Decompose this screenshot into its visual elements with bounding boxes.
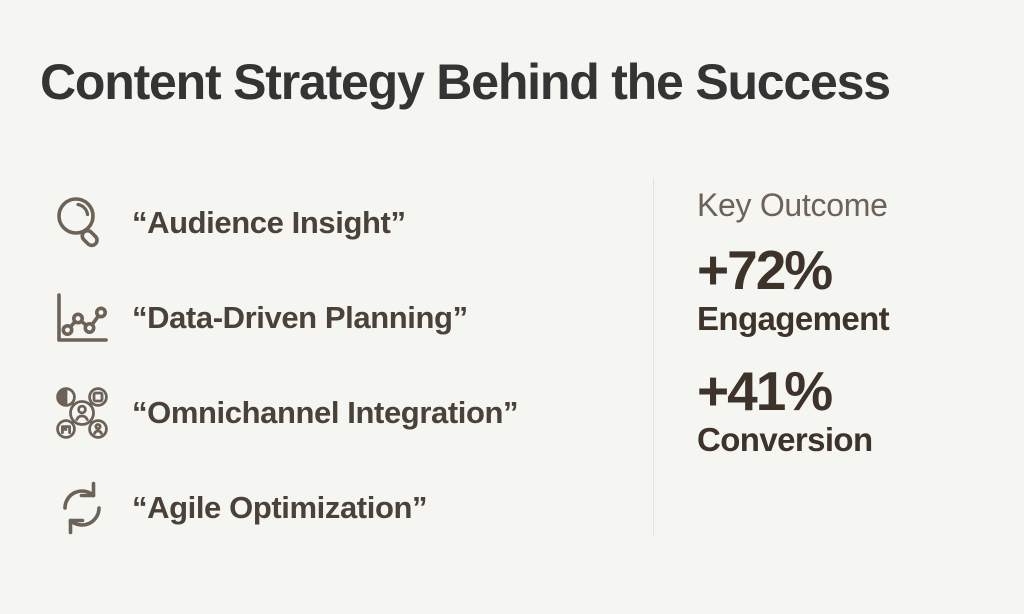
stat-conversion: +41% Conversion: [697, 363, 997, 458]
key-outcome-panel: Key Outcome +72% Engagement +41% Convers…: [697, 186, 997, 458]
strategy-item-agile-optimization[interactable]: “Agile Optimization”: [48, 460, 628, 555]
stat-engagement: +72% Engagement: [697, 242, 997, 337]
strategy-item-label: “Agile Optimization”: [132, 490, 427, 526]
strategy-item-label: “Audience Insight”: [132, 205, 406, 241]
strategy-item-audience-insight[interactable]: “Audience Insight”: [48, 175, 628, 270]
strategy-item-label: “Omnichannel Integration”: [132, 395, 518, 431]
magnifier-icon: [48, 189, 116, 257]
strategy-list: “Audience Insight” “Data-Driven Planning…: [48, 175, 628, 555]
stat-value: +41%: [697, 363, 997, 421]
stat-label: Conversion: [697, 422, 997, 458]
strategy-item-label: “Data-Driven Planning”: [132, 300, 468, 336]
stat-label: Engagement: [697, 301, 997, 337]
omnichannel-network-icon: [48, 379, 116, 447]
strategy-item-data-driven-planning[interactable]: “Data-Driven Planning”: [48, 270, 628, 365]
stat-value: +72%: [697, 242, 997, 300]
key-outcome-heading: Key Outcome: [697, 186, 997, 224]
refresh-cycle-icon: [48, 474, 116, 542]
page-title: Content Strategy Behind the Success: [40, 55, 890, 110]
slide-canvas: Content Strategy Behind the Success “Aud…: [0, 0, 1024, 614]
line-chart-icon: [48, 284, 116, 352]
strategy-item-omnichannel-integration[interactable]: “Omnichannel Integration”: [48, 365, 628, 460]
vertical-divider: [653, 178, 654, 536]
